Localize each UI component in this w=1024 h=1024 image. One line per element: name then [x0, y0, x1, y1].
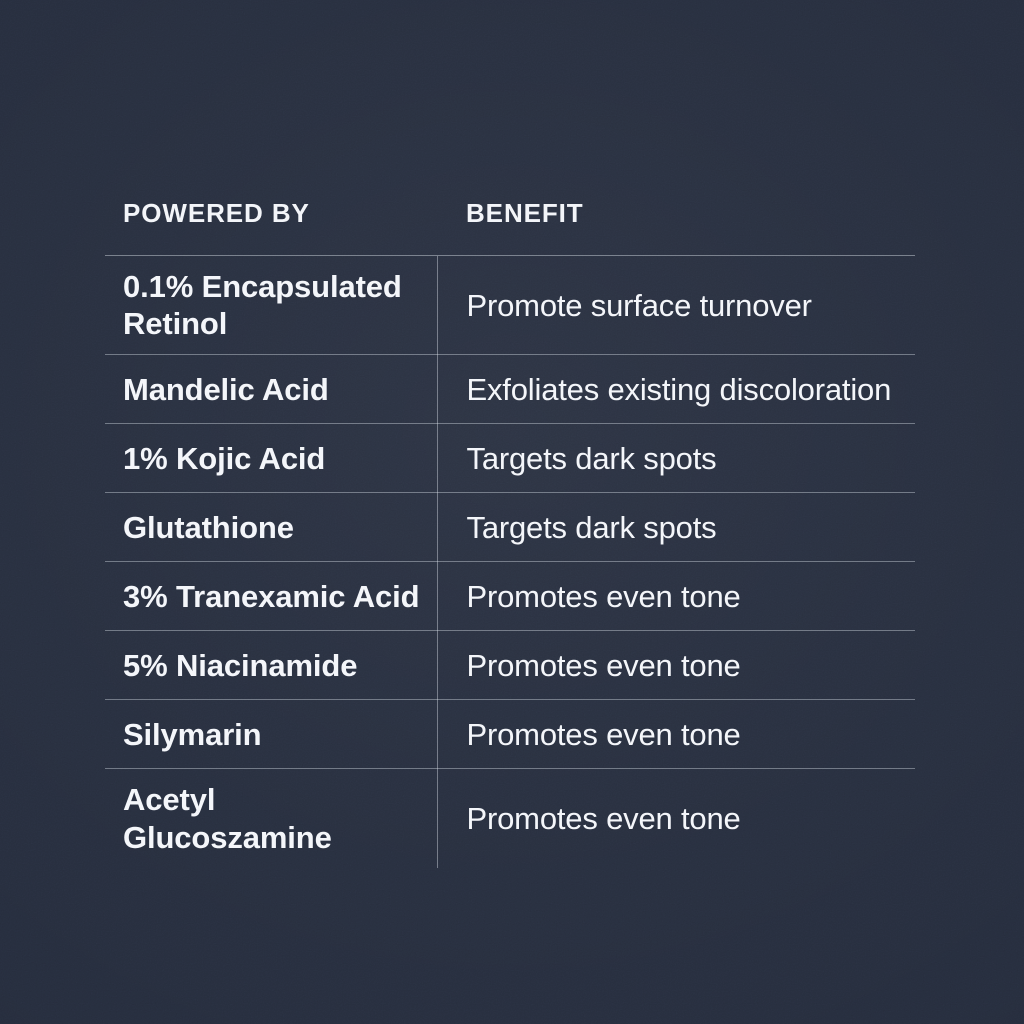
- table-row: Mandelic AcidExfoliates existing discolo…: [105, 355, 915, 424]
- ingredient-benefit-table: POWERED BY BENEFIT 0.1% Encapsulated Ret…: [105, 198, 915, 868]
- ingredient-benefit-table-container: POWERED BY BENEFIT 0.1% Encapsulated Ret…: [105, 198, 915, 868]
- table-row: 1% Kojic AcidTargets dark spots: [105, 424, 915, 493]
- table-header: POWERED BY BENEFIT: [105, 198, 915, 256]
- cell-ingredient: 1% Kojic Acid: [105, 424, 437, 493]
- cell-ingredient: 3% Tranexamic Acid: [105, 562, 437, 631]
- cell-benefit: Promote surface turnover: [437, 256, 915, 355]
- table-body: 0.1% Encapsulated RetinolPromote surface…: [105, 256, 915, 868]
- table-row: 5% NiacinamidePromotes even tone: [105, 631, 915, 700]
- table-row: 0.1% Encapsulated RetinolPromote surface…: [105, 256, 915, 355]
- cell-benefit: Promotes even tone: [437, 562, 915, 631]
- cell-benefit: Promotes even tone: [437, 631, 915, 700]
- column-header-powered-by: POWERED BY: [105, 198, 437, 256]
- table-row: 3% Tranexamic AcidPromotes even tone: [105, 562, 915, 631]
- cell-benefit: Targets dark spots: [437, 493, 915, 562]
- cell-ingredient: 5% Niacinamide: [105, 631, 437, 700]
- cell-benefit: Exfoliates existing discoloration: [437, 355, 915, 424]
- cell-ingredient: 0.1% Encapsulated Retinol: [105, 256, 437, 355]
- table-row: Acetyl GlucoszaminePromotes even tone: [105, 769, 915, 868]
- cell-benefit: Targets dark spots: [437, 424, 915, 493]
- cell-ingredient: Acetyl Glucoszamine: [105, 769, 437, 868]
- table-row: GlutathioneTargets dark spots: [105, 493, 915, 562]
- cell-ingredient: Silymarin: [105, 700, 437, 769]
- cell-benefit: Promotes even tone: [437, 700, 915, 769]
- table-row: SilymarinPromotes even tone: [105, 700, 915, 769]
- table-header-row: POWERED BY BENEFIT: [105, 198, 915, 256]
- column-header-benefit: BENEFIT: [437, 198, 915, 256]
- cell-benefit: Promotes even tone: [437, 769, 915, 868]
- cell-ingredient: Mandelic Acid: [105, 355, 437, 424]
- cell-ingredient: Glutathione: [105, 493, 437, 562]
